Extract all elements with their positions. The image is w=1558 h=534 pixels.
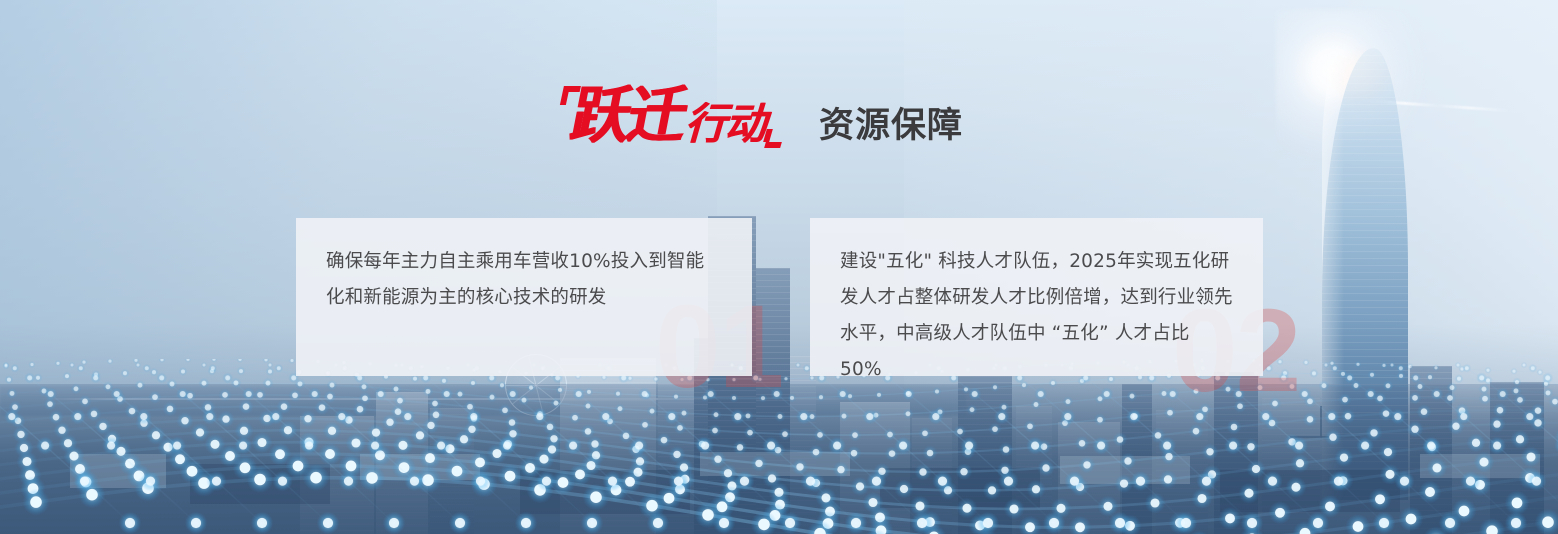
foreground-block: [1420, 454, 1540, 478]
foreground-block: [880, 468, 1040, 508]
brand-accent-text: 行动: [682, 103, 774, 146]
content-card-02: 建设"五化" 科技人才队伍，2025年实现五化研发人才占整体研发人才比例倍增，达…: [810, 218, 1263, 376]
page-title: 跃迁 行动 资源保障: [566, 88, 963, 146]
foreground-block: [70, 454, 166, 488]
brand-lockup: 跃迁 行动: [566, 88, 781, 146]
foreground-block: [1220, 470, 1400, 512]
foreground-block: [700, 452, 850, 476]
content-card-01: 确保每年主力自主乘用车营收10%投入到智能化和新能源为主的核心技术的研发: [296, 218, 752, 376]
foreground-block: [190, 464, 330, 504]
foreground-block: [1060, 456, 1190, 484]
brand-main-text: 跃迁: [566, 85, 690, 146]
foreground-block: [520, 470, 690, 514]
card-body-text: 确保每年主力自主乘用车营收10%投入到智能化和新能源为主的核心技术的研发: [326, 244, 722, 316]
card-body-text: 建设"五化" 科技人才队伍，2025年实现五化研发人才占整体研发人才比例倍增，达…: [840, 244, 1233, 388]
foreground-block: [360, 454, 480, 480]
banner-slide: 01 02 跃迁 行动 资源保障 确保每年主力自主乘用车营收10%投入到智能化和…: [0, 0, 1558, 534]
quote-close-icon: [765, 129, 781, 148]
subtitle-text: 资源保障: [819, 109, 963, 144]
